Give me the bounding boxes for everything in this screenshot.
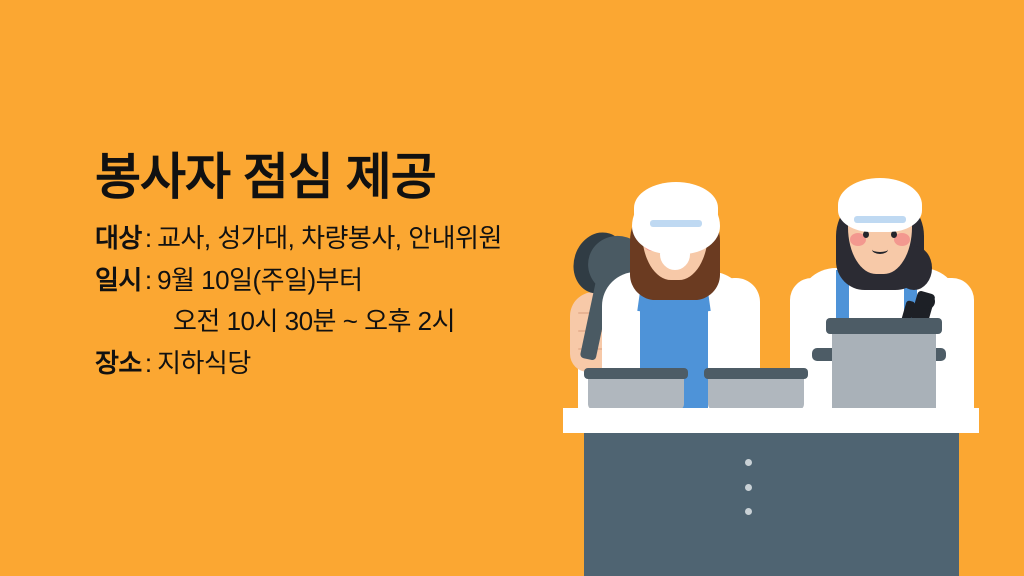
stock-pot-rim: [826, 318, 942, 334]
info-row-daesang: 대상 : 교사, 성가대, 차량봉사, 안내위원: [95, 220, 615, 258]
cook-right-eye-right: [891, 231, 897, 238]
poster-text-block: 봉사자 점심 제공 대상 : 교사, 성가대, 차량봉사, 안내위원 일시 : …: [95, 148, 615, 387]
info-label: 장소: [95, 345, 142, 383]
info-value: 교사, 성가대, 차량봉사, 안내위원: [157, 220, 502, 258]
info-row-ilsi: 일시 : 9월 10일(주일)부터: [95, 262, 615, 300]
tray-right-rim: [704, 368, 808, 379]
poster-canvas: 봉사자 점심 제공 대상 : 교사, 성가대, 차량봉사, 안내위원 일시 : …: [0, 0, 1024, 576]
info-value: 9월 10일(주일)부터: [157, 262, 362, 300]
cook-right-eye-left: [863, 231, 869, 238]
cooks-illustration: [540, 0, 1024, 576]
counter-vent-dots: [745, 459, 752, 515]
cook-right-hat-band: [854, 216, 906, 223]
info-row-jangso: 장소 : 지하식당: [95, 345, 615, 383]
info-separator: :: [142, 262, 157, 300]
cook-right-mouth: [872, 245, 888, 254]
tray-left-body: [588, 374, 684, 410]
counter-vent-dot: [745, 508, 752, 515]
info-separator: :: [142, 345, 157, 383]
tray-right-body: [708, 374, 804, 410]
info-row-ilsi-time: 오전 10시 30분 ~ 오후 2시: [95, 303, 615, 341]
counter-vent-dot: [745, 459, 752, 466]
info-label: 대상: [95, 220, 142, 258]
info-value: 오전 10시 30분 ~ 오후 2시: [173, 303, 455, 341]
counter-vent-dot: [745, 484, 752, 491]
info-value: 지하식당: [157, 345, 251, 383]
tray-left-rim: [584, 368, 688, 379]
info-separator: :: [142, 220, 157, 258]
page-title: 봉사자 점심 제공: [95, 148, 615, 206]
cook-left-hat-band-visible: [650, 220, 702, 227]
serving-counter-top: [563, 408, 979, 433]
serving-counter-body: [584, 432, 959, 576]
info-label: 일시: [95, 262, 142, 300]
